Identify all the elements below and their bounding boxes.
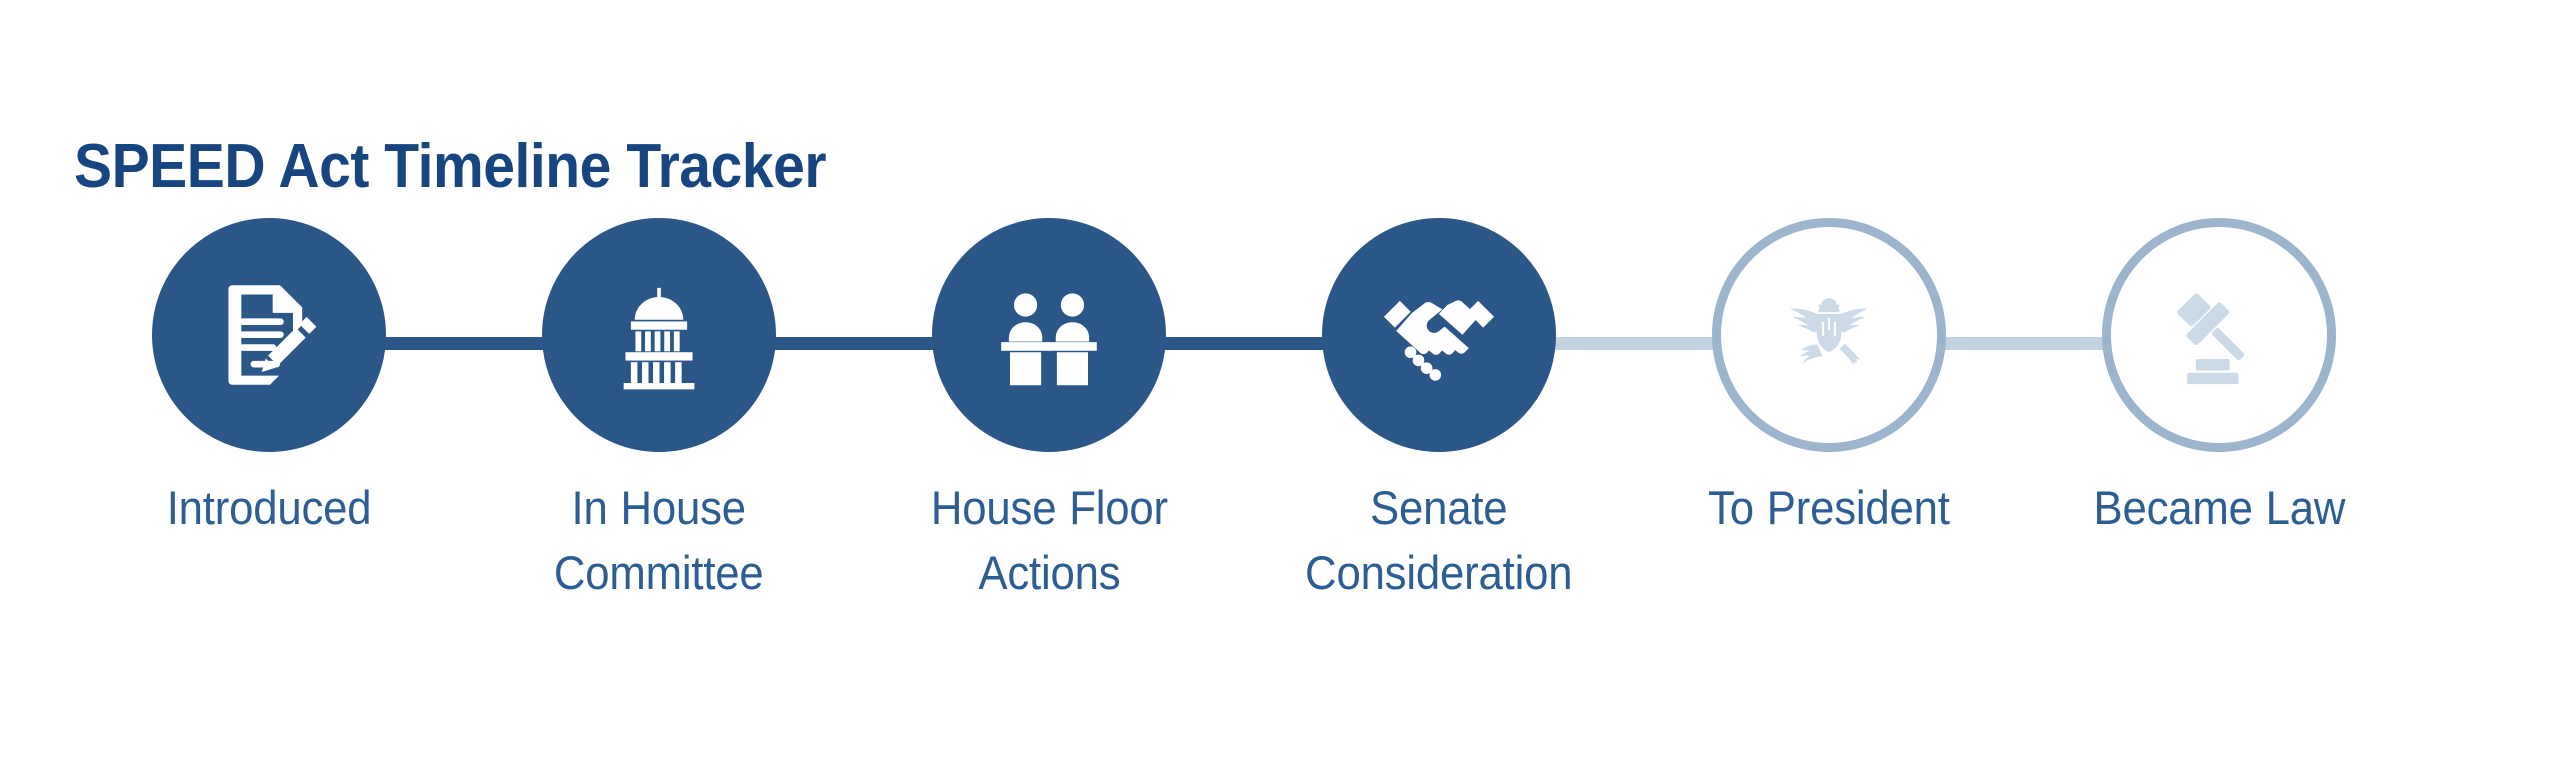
step-label-line1: House Floor (931, 481, 1168, 534)
timeline-step-introduced[interactable]: Introduced (74, 218, 464, 531)
presidential-eagle-seal-icon (1773, 279, 1885, 391)
timeline-step-house-floor-actions[interactable]: House Floor Actions (854, 218, 1244, 596)
document-pencil-icon (210, 276, 328, 394)
step-label-to-president: To President (1708, 484, 1950, 531)
timeline-tracker-page: SPEED Act Timeline Tracker (0, 0, 2560, 768)
handshake-icon (1377, 273, 1501, 397)
step-node-in-house-committee[interactable] (542, 218, 776, 452)
step-node-house-floor-actions[interactable] (932, 218, 1166, 452)
step-node-to-president[interactable] (1712, 218, 1946, 452)
step-label-in-house-committee: In House Committee (554, 484, 764, 596)
page-title: SPEED Act Timeline Tracker (74, 134, 826, 201)
timeline-step-to-president[interactable]: To President (1634, 218, 2024, 531)
step-label-line1: Introduced (167, 481, 372, 534)
timeline-step-in-house-committee[interactable]: In House Committee (464, 218, 854, 596)
gavel-icon (2162, 278, 2276, 392)
two-speakers-podium-icon (989, 275, 1109, 395)
progress-timeline: Introduced (74, 218, 2494, 698)
step-node-became-law[interactable] (2102, 218, 2336, 452)
step-label-line1: In House (572, 481, 746, 534)
step-label-house-floor-actions: House Floor Actions (931, 484, 1168, 596)
timeline-step-became-law[interactable]: Became Law (2024, 218, 2414, 531)
step-label-line1: To President (1708, 481, 1950, 534)
step-node-introduced[interactable] (152, 218, 386, 452)
step-label-senate-consideration: Senate Consideration (1305, 484, 1572, 596)
step-label-line1: Senate (1370, 481, 1507, 534)
step-label-introduced: Introduced (167, 484, 372, 531)
step-label-line2: Consideration (1305, 549, 1572, 596)
step-label-became-law: Became Law (2093, 484, 2345, 531)
step-label-line1: Became Law (2093, 481, 2345, 534)
timeline-steps-row: Introduced (74, 218, 2414, 698)
timeline-step-senate-consideration[interactable]: Senate Consideration (1244, 218, 1634, 596)
step-label-line2: Actions (931, 549, 1168, 596)
step-label-line2: Committee (554, 549, 764, 596)
step-node-senate-consideration[interactable] (1322, 218, 1556, 452)
capitol-building-icon (601, 277, 717, 393)
